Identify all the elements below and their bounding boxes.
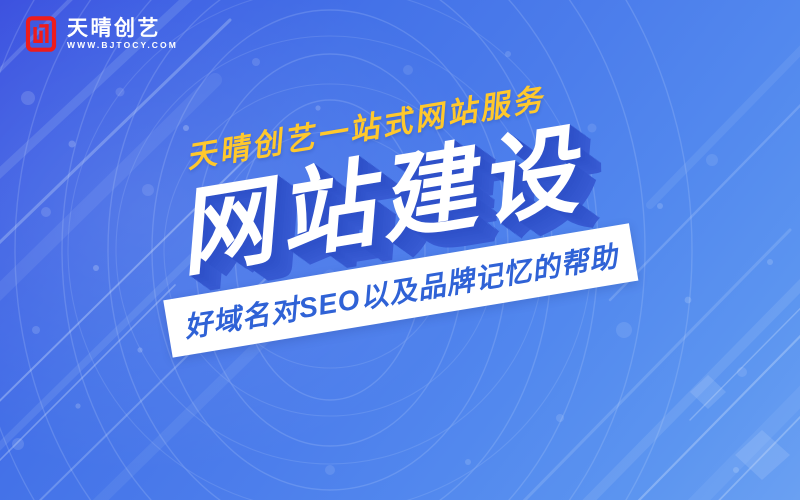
headline-stack: 天晴创艺一站式网站服务 网站建设 网站建设 好域名对SEO以及品牌记忆的帮助 (0, 0, 800, 500)
promo-banner: 天晴创艺 WWW.BJTOCY.COM 天晴创艺一站式网站服务 网站建设 网站建… (0, 0, 800, 500)
